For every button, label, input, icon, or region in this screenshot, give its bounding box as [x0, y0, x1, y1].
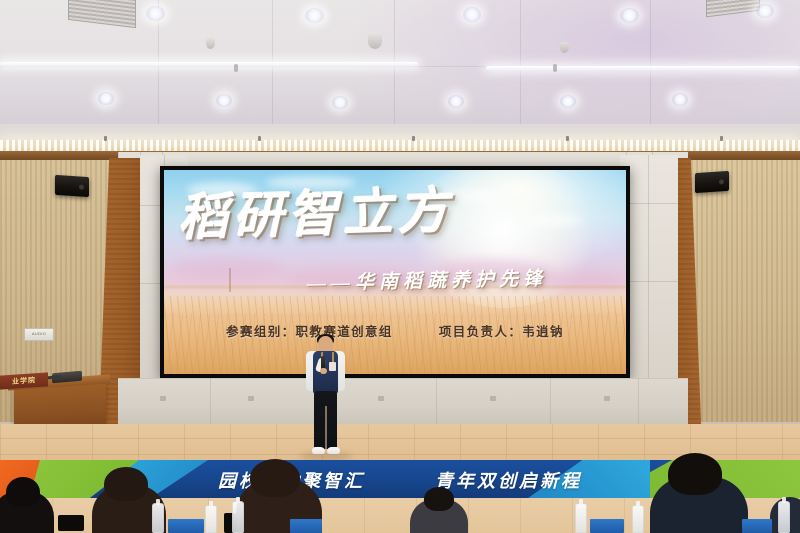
auditorium-scene: AUDIO 稻研智立方 ——华南稻蔬养护先锋 参赛组别：职教赛道创意组 项目负责…	[0, 0, 800, 533]
ceiling-sprinkler-icon	[560, 42, 569, 53]
ceiling-downlight	[756, 4, 774, 18]
audience-head	[104, 467, 148, 501]
wall-speaker-right	[695, 171, 729, 193]
slide-tower	[229, 268, 231, 292]
ceiling-downlight	[463, 7, 481, 22]
audience-name-card	[590, 519, 624, 533]
air-vent-icon	[68, 0, 136, 28]
ceiling-downlight	[620, 8, 639, 23]
ceiling-downlight	[332, 96, 348, 109]
water-bottle	[778, 501, 790, 533]
audience-name-card	[742, 519, 772, 533]
presentation-slide: 稻研智立方 ——华南稻蔬养护先锋 参赛组别：职教赛道创意组 项目负责人：韦逍钠	[164, 170, 626, 374]
ceiling-downlight	[672, 93, 688, 106]
water-bottle	[632, 505, 644, 533]
audience-head	[424, 487, 454, 511]
presenter-hand	[320, 368, 327, 374]
linear-ceiling-light	[0, 62, 418, 66]
air-vent-icon	[706, 0, 760, 17]
audience-head	[250, 459, 300, 497]
audience-name-card	[168, 519, 204, 533]
ceiling-downlight	[98, 92, 114, 105]
ceiling-downlight	[305, 8, 324, 23]
audience-name-card	[290, 519, 322, 533]
wall-control-plate[interactable]: AUDIO	[24, 328, 54, 341]
water-bottle	[575, 503, 587, 533]
slide-title: 稻研智立方	[177, 183, 548, 244]
linear-ceiling-light	[486, 66, 800, 70]
ceiling-downlight	[146, 6, 165, 21]
institution-sign-text: 业学院	[12, 375, 36, 387]
led-display-frame: 稻研智立方 ——华南稻蔬养护先锋 参赛组别：职教赛道创意组 项目负责人：韦逍钠	[160, 166, 630, 378]
slide-meta-leader: 项目负责人：韦逍钠	[439, 321, 564, 340]
ceiling-downlight	[448, 95, 464, 108]
presenter-shoe-right	[327, 447, 340, 454]
wall-plate-label: AUDIO	[25, 329, 53, 338]
water-bottle	[152, 503, 164, 533]
banner-text-right: 青年双创启新程	[435, 467, 582, 493]
ceiling	[0, 0, 800, 128]
ceiling-sprinkler-icon	[368, 34, 382, 49]
water-bottle	[205, 505, 217, 533]
audience-head	[6, 477, 40, 507]
presenter-badge	[329, 362, 336, 371]
ceiling-downlight	[216, 94, 232, 107]
ceiling-downlight	[560, 95, 576, 108]
presenter-figure	[303, 336, 347, 464]
ceiling-nozzle-icon	[553, 64, 557, 72]
slide-subtitle: ——华南稻蔬养护先锋	[307, 263, 548, 295]
ceiling-nozzle-icon	[234, 64, 238, 72]
audience-head	[668, 453, 722, 495]
presenter-shoe-left	[312, 447, 325, 454]
camera-device	[58, 515, 84, 531]
wall-speaker-left	[55, 175, 89, 197]
lower-back-wall	[118, 378, 688, 428]
slide-meta-row: 参赛组别：职教赛道创意组 项目负责人：韦逍钠	[164, 321, 626, 340]
water-bottle	[232, 501, 244, 533]
ceiling-sprinkler-icon	[206, 38, 215, 49]
right-wall-panel	[686, 160, 800, 422]
